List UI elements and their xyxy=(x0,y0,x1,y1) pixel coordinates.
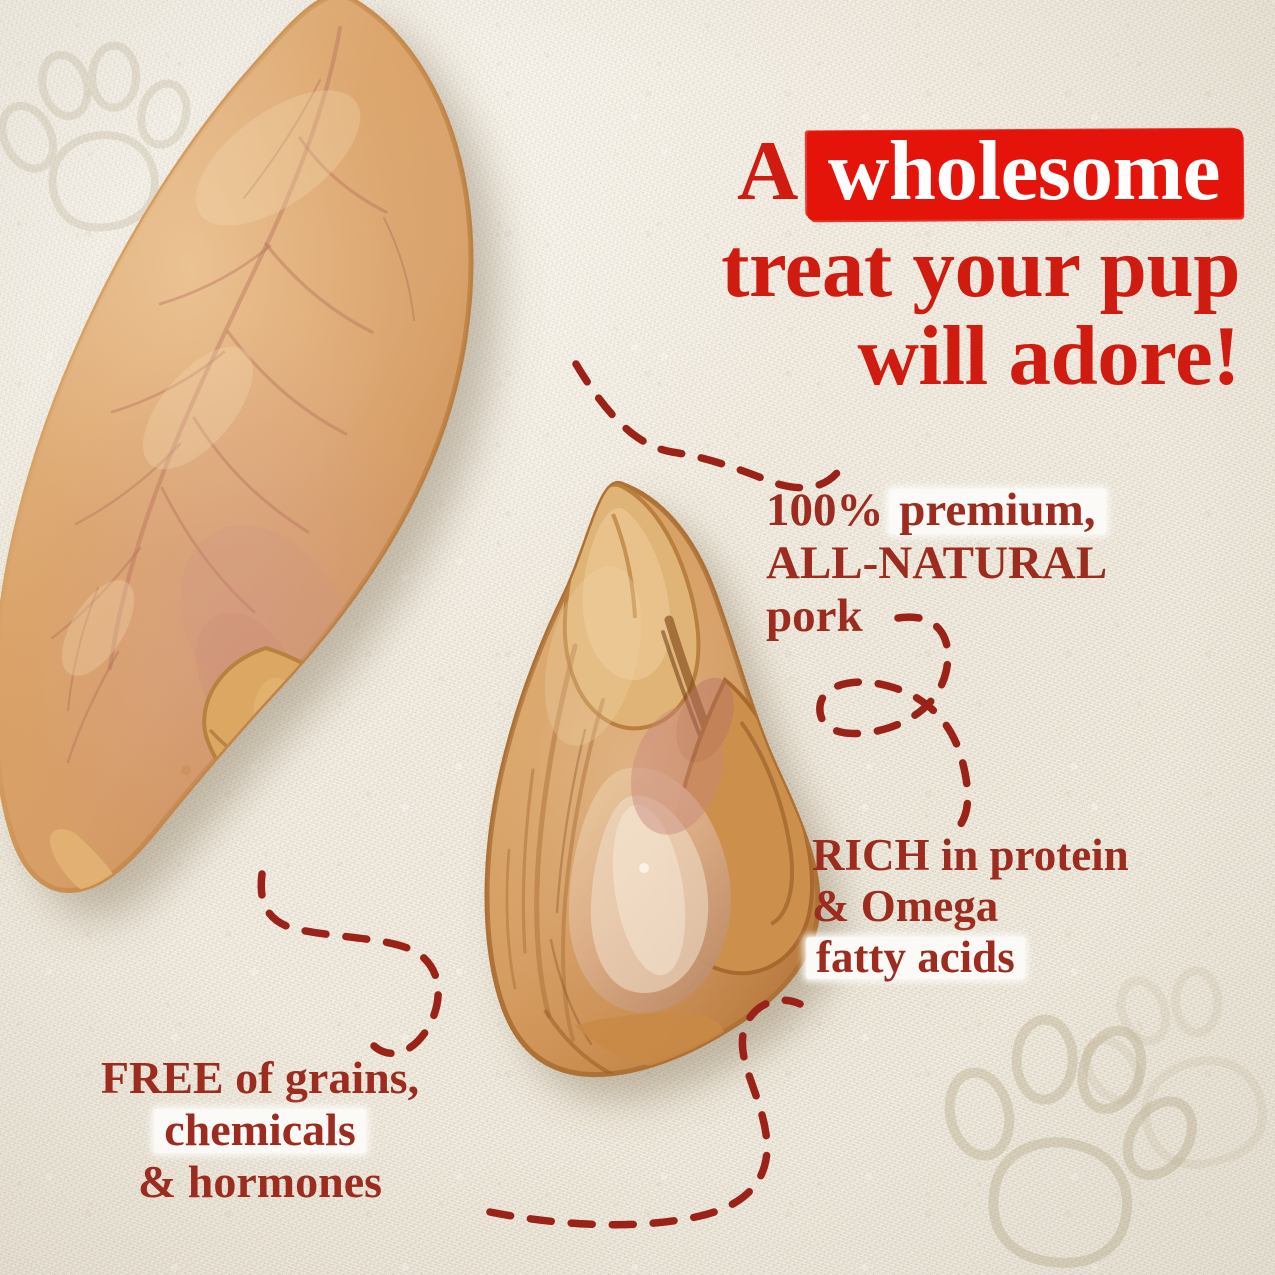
product-infographic: Awholesome treat your pup will adore! 10… xyxy=(0,0,1275,1275)
feature-free-line-3: & hormones xyxy=(46,1156,474,1208)
feature-callout-pork: 100% premium, ALL-NATURAL pork xyxy=(766,484,1107,643)
feature-protein-line-3: fatty acids xyxy=(812,932,1129,983)
feature-protein-line-1: RICH in protein xyxy=(812,830,1129,881)
headline-line-2: treat your pup xyxy=(560,227,1240,310)
feature-pork-line-1: 100% premium, xyxy=(766,484,1107,537)
feature-free-line-1: FREE of grains, xyxy=(46,1052,474,1104)
headline: Awholesome treat your pup will adore! xyxy=(560,128,1240,398)
feature-protein-highlight: fatty acids xyxy=(812,932,1019,983)
feature-free-line-2: chemicals xyxy=(46,1104,474,1156)
headline-highlight-word: wholesome xyxy=(811,128,1236,219)
feature-pork-highlight: premium, xyxy=(895,484,1099,537)
headline-line-1: Awholesome xyxy=(560,128,1240,219)
headline-line-3: will adore! xyxy=(560,315,1240,398)
feature-free-highlight: chemicals xyxy=(160,1104,360,1156)
feature-callout-free: FREE of grains, chemicals & hormones xyxy=(46,1052,474,1208)
headline-prefix: A xyxy=(737,130,798,213)
feature-protein-line-2: & Omega xyxy=(812,881,1129,932)
feature-callout-protein: RICH in protein & Omega fatty acids xyxy=(812,830,1129,983)
feature-pork-line-2: ALL-NATURAL xyxy=(766,537,1107,590)
feature-pork-line-3: pork xyxy=(766,590,1107,643)
